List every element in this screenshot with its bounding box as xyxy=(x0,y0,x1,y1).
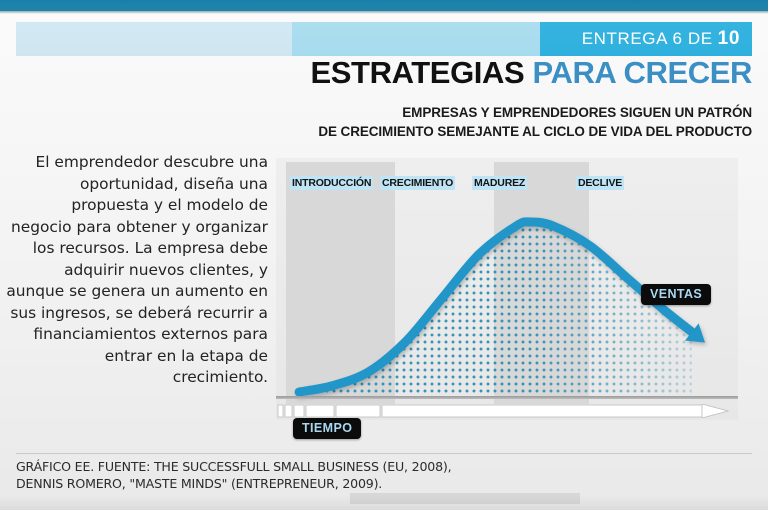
header-band-mid xyxy=(292,22,540,56)
top-accent-rule xyxy=(0,0,768,11)
top-rule-shadow xyxy=(0,11,768,14)
page-subtitle-line-1: EMPRESAS Y EMPRENDEDORES SIGUEN UN PATRÓ… xyxy=(402,105,752,120)
body-copy: El emprendedor descubre una oportunidad,… xyxy=(6,152,268,389)
issue-badge: ENTREGA 6 DE10 xyxy=(582,22,752,56)
header-band-pale xyxy=(16,22,292,56)
time-axis-arrow xyxy=(276,404,748,418)
source-line-2: DENNIS ROMERO, "MASTE MINDS" (ENTREPRENE… xyxy=(16,475,752,492)
page-title: ESTRATEGIAS PARA CRECER xyxy=(311,57,753,88)
issue-badge-number: 10 xyxy=(718,28,740,50)
issue-badge-lead: ENTREGA 6 DE xyxy=(582,29,713,49)
infographic-page: ENTREGA 6 DE10 ESTRATEGIAS PARA CRECER E… xyxy=(0,0,768,510)
header-band-row: ENTREGA 6 DE10 xyxy=(0,22,768,56)
bottom-edge-shadow xyxy=(0,496,768,510)
page-subtitle-line-2: DE CRECIMIENTO SEMEJANTE AL CICLO DE VID… xyxy=(318,124,752,139)
axis-baseline xyxy=(276,396,738,399)
source-footer: GRÁFICO EE. FUENTE: THE SUCCESSFULL SMAL… xyxy=(16,458,752,492)
page-title-accent: PARA CRECER xyxy=(532,55,752,90)
tiempo-label-badge: TIEMPO xyxy=(293,418,361,439)
ventas-label-badge: VENTAS xyxy=(641,284,711,305)
time-axis xyxy=(276,396,748,418)
page-title-main: ESTRATEGIAS xyxy=(311,55,525,90)
footer-divider xyxy=(16,453,752,454)
source-line-1: GRÁFICO EE. FUENTE: THE SUCCESSFULL SMAL… xyxy=(16,458,752,475)
